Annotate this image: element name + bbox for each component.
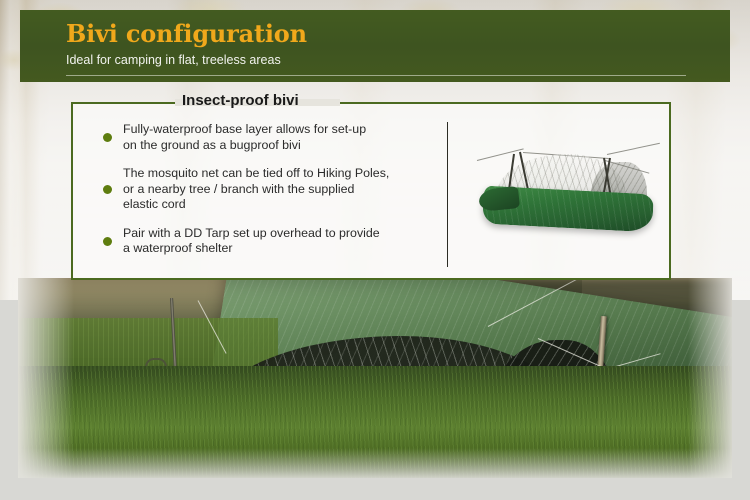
list-item-label: The mosquito net can be tied off to Hiki… — [123, 166, 389, 213]
product-guy-line — [607, 143, 660, 155]
photo-edge-fade-bottom — [18, 448, 732, 478]
list-item: Fully-waterproof base layer allows for s… — [103, 122, 453, 153]
bivi-photo — [18, 278, 732, 478]
product-guy-line — [477, 148, 524, 161]
bivi-product-image — [473, 144, 663, 244]
panel-vertical-divider — [447, 122, 448, 267]
bullet-dot-icon — [103, 237, 112, 246]
panel-title: Insect-proof bivi — [182, 92, 299, 109]
feature-bullet-list: Fully-waterproof base layer allows for s… — [103, 122, 453, 270]
product-feature-graphic: Bivi configuration Ideal for camping in … — [0, 0, 750, 500]
list-item: Pair with a DD Tarp set up overhead to p… — [103, 226, 453, 257]
bullet-dot-icon — [103, 133, 112, 142]
insect-proof-bivi-panel: Fully-waterproof base layer allows for s… — [71, 102, 671, 280]
bullet-dot-icon — [103, 185, 112, 194]
header-divider — [66, 75, 686, 76]
header-band: Bivi configuration Ideal for camping in … — [20, 10, 730, 82]
list-item-label: Pair with a DD Tarp set up overhead to p… — [123, 226, 380, 257]
list-item-label: Fully-waterproof base layer allows for s… — [123, 122, 366, 153]
page-subtitle: Ideal for camping in flat, treeless area… — [66, 53, 281, 67]
page-title: Bivi configuration — [66, 19, 307, 48]
list-item: The mosquito net can be tied off to Hiki… — [103, 166, 453, 213]
